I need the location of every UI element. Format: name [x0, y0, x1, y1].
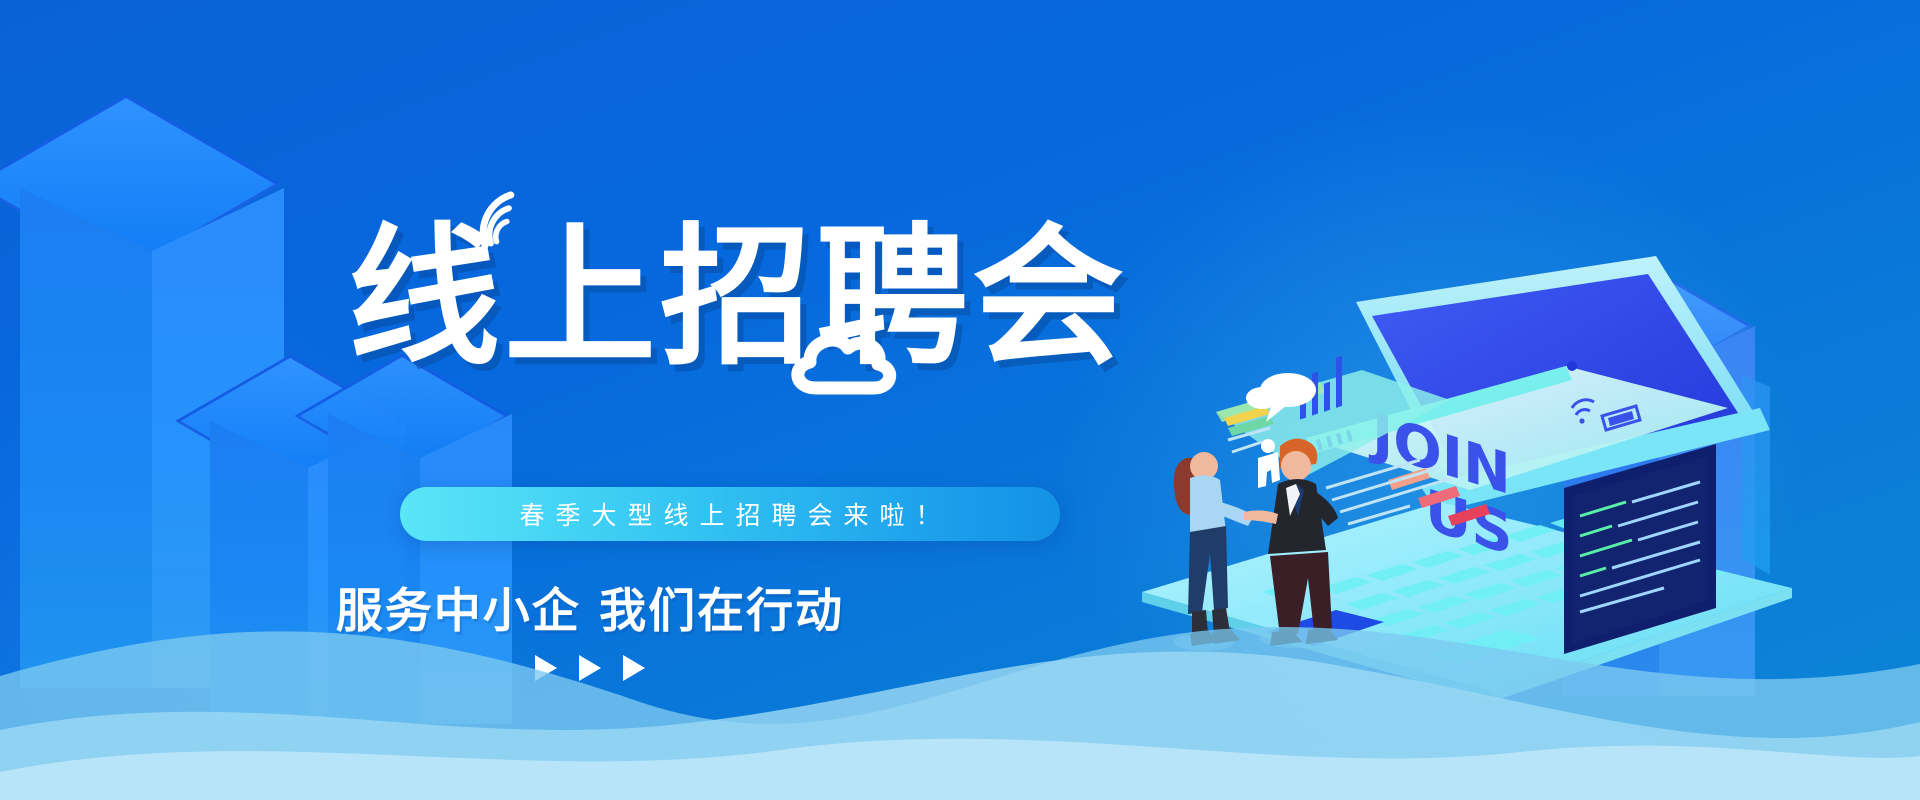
- cloud-icon: [778, 322, 908, 412]
- laptop-camera-dot: [1567, 361, 1577, 371]
- subtitle-pill: 春季大型线上招聘会来啦！: [400, 487, 1060, 541]
- wifi-signal-icon: [463, 186, 533, 248]
- screen-wifi-dot: [1579, 418, 1584, 423]
- bottom-wave-decoration: [0, 590, 1920, 800]
- subtitle-pill-label: 春季大型线上招聘会来啦！: [400, 487, 1060, 541]
- recruitment-banner: 线上招聘会 春季大型线上招聘会来啦！ 服务中小企 我们在行动: [0, 0, 1920, 800]
- wifi-dot: [472, 235, 482, 245]
